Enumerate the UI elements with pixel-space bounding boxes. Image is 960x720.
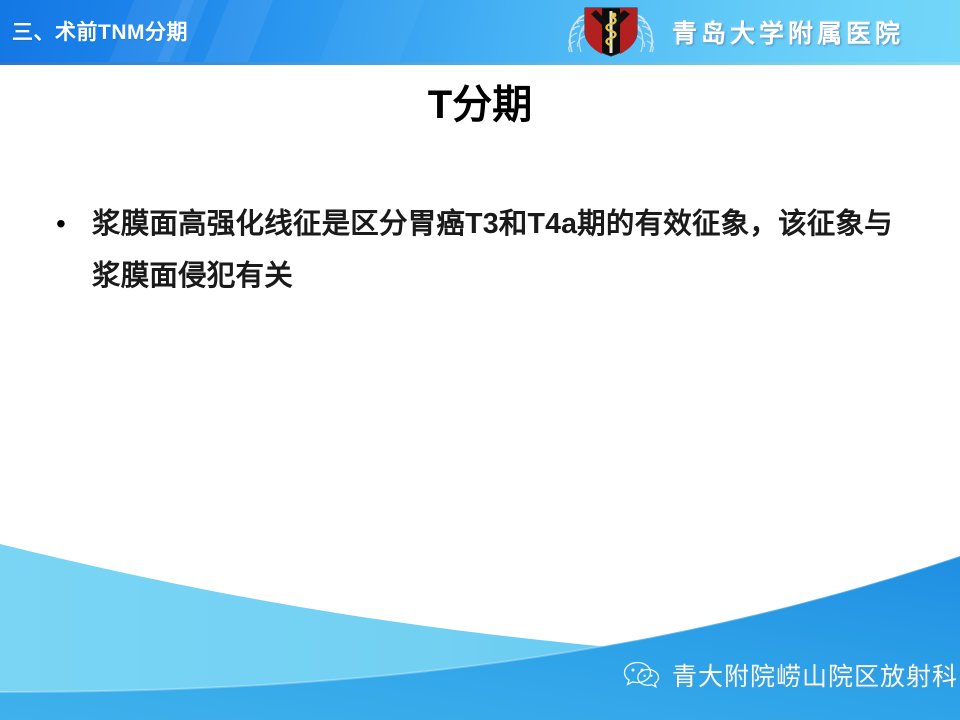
- wechat-icon: [622, 659, 662, 691]
- banner-underline: [0, 62, 960, 65]
- hospital-shield-logo: [552, 2, 670, 60]
- wechat-account-name: 青大附院崂山院区放射科: [672, 657, 958, 693]
- banner-streak: [300, 0, 441, 62]
- section-title: 三、术前TNM分期: [12, 16, 188, 46]
- wechat-watermark: 青大附院崂山院区放射科: [622, 655, 958, 695]
- bullet-marker: •: [50, 198, 92, 250]
- presentation-slide: 三、术前TNM分期: [0, 0, 960, 720]
- hospital-name: 青岛大学附属医院: [672, 14, 904, 50]
- content-body: • 浆膜面高强化线征是区分胃癌T3和T4a期的有效征象，该征象与浆膜面侵犯有关: [50, 198, 920, 302]
- bullet-list-item: • 浆膜面高强化线征是区分胃癌T3和T4a期的有效征象，该征象与浆膜面侵犯有关: [50, 198, 920, 302]
- slide-title: T分期: [0, 72, 960, 130]
- bullet-text: 浆膜面高强化线征是区分胃癌T3和T4a期的有效征象，该征象与浆膜面侵犯有关: [92, 198, 920, 302]
